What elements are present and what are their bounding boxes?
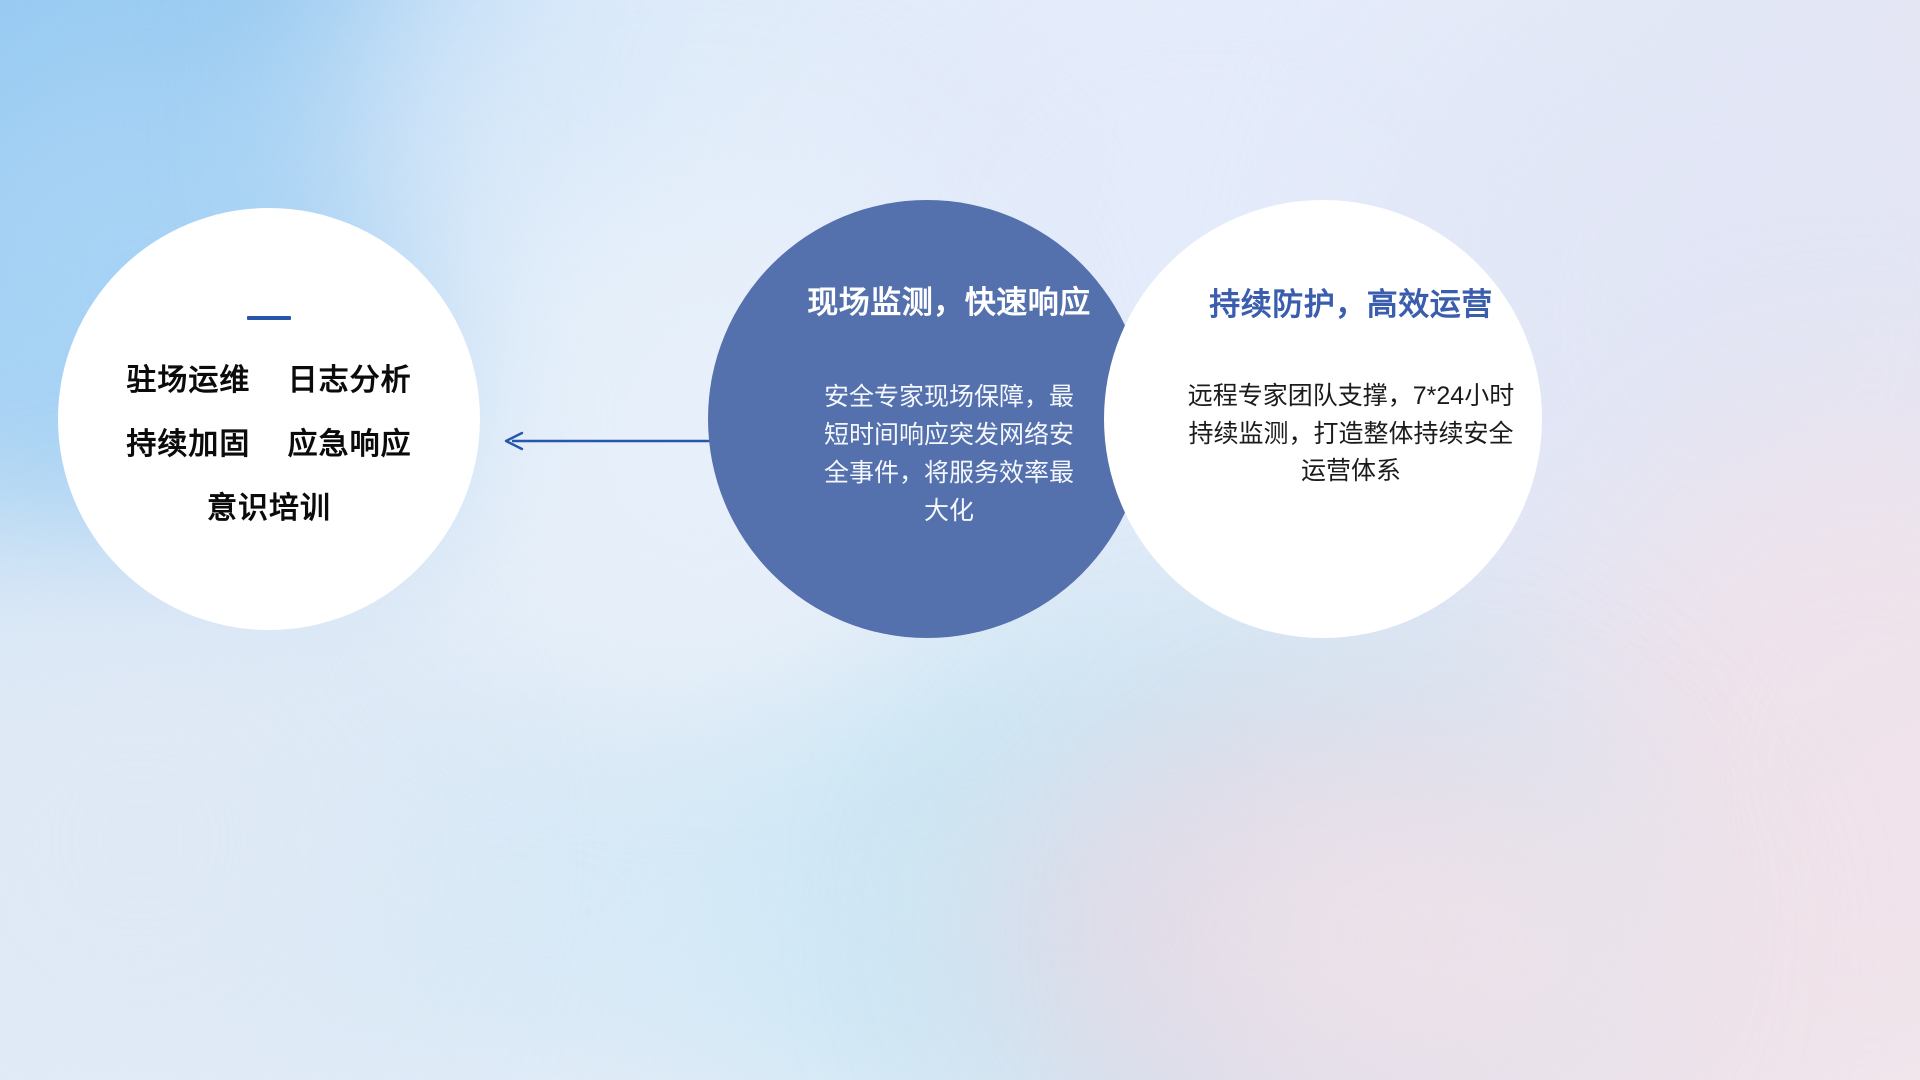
circle-left-line-2: 持续加固 应急响应 bbox=[126, 430, 411, 460]
circle-left-line-3: 意识培训 bbox=[207, 494, 331, 524]
circle-right-body: 远程专家团队支撑，7*24小时持续监测，打造整体持续安全运营体系 bbox=[1183, 378, 1519, 491]
circle-onsite-monitoring[interactable]: 现场监测，快速响应 安全专家现场保障，最短时间响应突发网络安全事件，将服务效率最… bbox=[708, 200, 1146, 638]
circle-service-keywords[interactable]: 驻场运维 日志分析 持续加固 应急响应 意识培训 bbox=[58, 208, 480, 630]
circle-right-title: 持续防护，高效运营 bbox=[1209, 288, 1493, 322]
circle-middle-content: 现场监测，快速响应 安全专家现场保障，最短时间响应突发网络安全事件，将服务效率最… bbox=[708, 200, 1146, 530]
circle-right-content: 持续防护，高效运营 远程专家团队支撑，7*24小时持续监测，打造整体持续安全运营… bbox=[1104, 200, 1542, 491]
circle-continuous-protection[interactable]: 持续防护，高效运营 远程专家团队支撑，7*24小时持续监测，打造整体持续安全运营… bbox=[1104, 200, 1542, 638]
circle-middle-body: 安全专家现场保障，最短时间响应突发网络安全事件，将服务效率最大化 bbox=[824, 378, 1074, 530]
circle-middle-title: 现场监测，快速响应 bbox=[807, 286, 1091, 320]
circle-left-content: 驻场运维 日志分析 持续加固 应急响应 意识培训 bbox=[58, 208, 480, 524]
circle-left-line-1: 驻场运维 日志分析 bbox=[126, 366, 411, 396]
divider-dash-icon bbox=[247, 316, 291, 320]
slide-canvas: 现场监测，快速响应 安全专家现场保障，最短时间响应突发网络安全事件，将服务效率最… bbox=[0, 0, 1920, 1080]
